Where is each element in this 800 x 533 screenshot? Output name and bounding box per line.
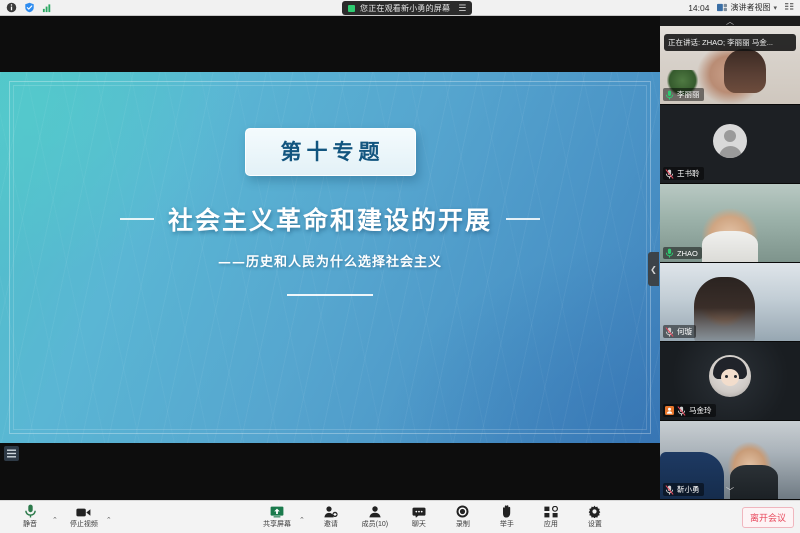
apps-button[interactable]: 应用 [529,502,573,533]
raise-hand-icon [501,505,513,518]
presentation-slide: 第十专题 社会主义革命和建设的开展 ——历史和人民为什么选择社会主义 [0,72,660,443]
top-bar-right: 14:04 演讲者视图 ▾ [688,2,800,13]
chat-label: 聊天 [412,519,426,529]
participant-tile[interactable]: 马金玲 [660,342,800,421]
mute-button[interactable]: 静音 [8,502,52,533]
top-bar: 您正在观看新小勇的屏幕 ☰ 14:04 演讲者视图 ▾ [0,0,800,16]
participant-name: 王书聆 [677,168,700,179]
shield-icon[interactable] [24,2,35,13]
share-screen-label: 共享屏幕 [263,519,291,529]
slide-subtitle: ——历史和人民为什么选择社会主义 [218,251,442,270]
avatar [713,124,747,158]
participant-name: 靳小勇 [677,484,700,495]
slide-topic-badge: 第十专题 [245,128,416,176]
mic-on-icon [665,248,674,258]
title-rule-right [506,218,540,220]
toolbar-center-group: 共享屏幕 ⌃ 邀请 成员(10) 聊天 [255,502,617,533]
annotate-list-button[interactable] [4,446,19,461]
meeting-toolbar: 静音 ⌃ 停止视频 ⌃ 共享屏幕 ⌃ [0,500,800,533]
slide-content: 第十专题 社会主义革命和建设的开展 ——历史和人民为什么选择社会主义 [0,72,660,443]
microphone-icon [24,505,37,518]
list-icon [7,449,16,458]
collapse-panel-button[interactable]: ❮ [648,252,659,286]
participant-tile[interactable]: 靳小勇 ﹀ [660,421,800,500]
mic-on-icon [665,90,674,100]
title-rule-left [120,218,154,220]
participants-icon [368,505,382,518]
zoom-meeting-window: 您正在观看新小勇的屏幕 ☰ 14:04 演讲者视图 ▾ [0,0,800,533]
cartoon-avatar [709,355,751,397]
mic-off-icon [665,169,674,179]
mic-off-icon [677,406,686,416]
chat-bubble-icon [412,505,426,518]
slide-underbar [287,294,373,296]
top-bar-left-icons [0,2,53,13]
participant-name-badge: 何璇 [663,325,696,338]
settings-button[interactable]: 设置 [573,502,617,533]
participant-name-badge: 王书聆 [663,167,704,180]
slide-topic-text: 第十专题 [276,136,385,166]
share-screen-icon [270,505,284,518]
raise-hand-button[interactable]: 举手 [485,502,529,533]
signal-icon[interactable] [42,2,53,13]
speaking-banner: 正在讲话: ZHAO; 李丽丽 马金... [664,34,796,51]
strip-scroll-up-button[interactable]: ︿ [660,16,800,26]
participant-tile[interactable]: 王书聆 [660,105,800,184]
participant-strip: ︿ 正在讲话: ZHAO; 李丽丽 马金... 李丽丽 [660,16,800,500]
share-banner-text: 您正在观看新小勇的屏幕 [360,3,450,14]
clock: 14:04 [688,3,709,13]
record-button[interactable]: 录制 [441,502,485,533]
video-options-chevron-icon[interactable]: ⌃ [106,516,116,533]
participant-tile[interactable]: ZHAO [660,184,800,263]
invite-label: 邀请 [324,519,338,529]
settings-label: 设置 [588,519,602,529]
participant-name: 马金玲 [689,405,712,416]
speaker-view-icon [717,3,727,12]
mic-off-icon [665,485,674,495]
leave-meeting-button[interactable]: 离开会议 [742,507,794,528]
participant-name: ZHAO [677,249,698,258]
record-icon [456,505,469,518]
stop-video-label: 停止视频 [70,519,98,529]
chevron-down-icon: ▾ [773,4,777,12]
screen-share-banner[interactable]: 您正在观看新小勇的屏幕 ☰ [342,1,472,15]
invite-person-icon [324,505,338,518]
participants-label: 成员(10) [362,519,388,529]
share-options-chevron-icon[interactable]: ⌃ [299,516,309,533]
participant-name: 何璇 [677,326,692,337]
video-camera-icon [76,505,91,518]
strip-scroll-down-button[interactable]: ﹀ [726,486,734,497]
participant-tile[interactable]: 何璇 [660,263,800,342]
grid-icon[interactable] [785,3,795,13]
slide-title-row: 社会主义革命和建设的开展 [120,201,540,237]
apps-label: 应用 [544,519,558,529]
shared-screen-stage[interactable]: 第十专题 社会主义革命和建设的开展 ——历史和人民为什么选择社会主义 [0,16,660,500]
raise-hand-label: 举手 [500,519,514,529]
mute-label: 静音 [23,519,37,529]
stop-video-button[interactable]: 停止视频 [62,502,106,533]
share-active-dot [348,5,355,12]
participant-name-badge: 马金玲 [663,404,716,417]
participants-button[interactable]: 成员(10) [353,502,397,533]
host-chip-icon [665,406,674,415]
slide-title: 社会主义革命和建设的开展 [168,201,492,237]
share-menu-icon[interactable]: ☰ [458,3,466,14]
mic-off-icon [665,327,674,337]
participant-name-badge: 李丽丽 [663,88,704,101]
info-icon[interactable] [6,2,17,13]
apps-grid-icon [544,505,558,518]
participant-name: 李丽丽 [677,89,700,100]
chat-button[interactable]: 聊天 [397,502,441,533]
gear-icon [588,505,601,518]
share-screen-button[interactable]: 共享屏幕 [255,502,299,533]
view-mode-label: 演讲者视图 [730,2,770,13]
participant-tile[interactable]: 正在讲话: ZHAO; 李丽丽 马金... 李丽丽 [660,26,800,105]
toolbar-left-group: 静音 ⌃ 停止视频 ⌃ [0,502,116,533]
participant-name-badge: 靳小勇 [663,483,704,496]
participant-name-badge: ZHAO [663,247,702,259]
audio-options-chevron-icon[interactable]: ⌃ [52,516,62,533]
record-label: 录制 [456,519,470,529]
view-mode-selector[interactable]: 演讲者视图 ▾ [717,2,777,13]
invite-button[interactable]: 邀请 [309,502,353,533]
